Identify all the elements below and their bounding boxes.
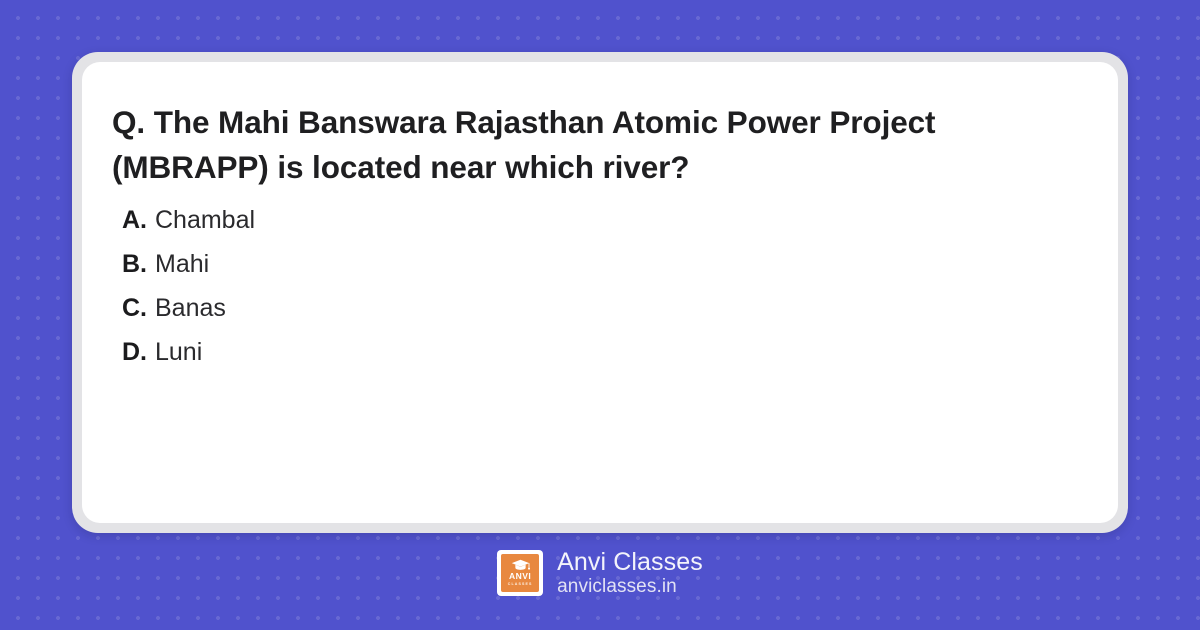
option-letter-c: C. — [122, 296, 147, 321]
option-label-a: Chambal — [155, 208, 255, 233]
options-list: A. Chambal B. Mahi C. Banas D. Luni — [112, 208, 1090, 365]
quiz-card-inner: Q. The Mahi Banswara Rajasthan Atomic Po… — [82, 62, 1118, 523]
option-row-c[interactable]: C. Banas — [122, 296, 1090, 321]
option-letter-d: D. — [122, 340, 147, 365]
brand-name: Anvi Classes — [557, 548, 703, 576]
option-label-d: Luni — [155, 340, 202, 365]
graduation-cap-icon — [511, 559, 530, 571]
brand-website: anviclasses.in — [557, 576, 703, 597]
option-label-c: Banas — [155, 296, 226, 321]
brand-logo-name: ANVI — [509, 572, 531, 581]
option-row-a[interactable]: A. Chambal — [122, 208, 1090, 233]
quiz-card: Q. The Mahi Banswara Rajasthan Atomic Po… — [72, 52, 1128, 533]
question-text: Q. The Mahi Banswara Rajasthan Atomic Po… — [112, 100, 1072, 191]
option-letter-b: B. — [122, 252, 147, 277]
footer-brand: ANVI CLASSES Anvi Classes anviclasses.in — [0, 548, 1200, 597]
brand-logo-subtitle: CLASSES — [508, 583, 533, 587]
brand-text-block: Anvi Classes anviclasses.in — [557, 548, 703, 597]
brand-logo: ANVI CLASSES — [497, 550, 543, 596]
option-letter-a: A. — [122, 208, 147, 233]
option-row-b[interactable]: B. Mahi — [122, 252, 1090, 277]
option-row-d[interactable]: D. Luni — [122, 340, 1090, 365]
brand-logo-tile: ANVI CLASSES — [501, 554, 539, 592]
option-label-b: Mahi — [155, 252, 209, 277]
